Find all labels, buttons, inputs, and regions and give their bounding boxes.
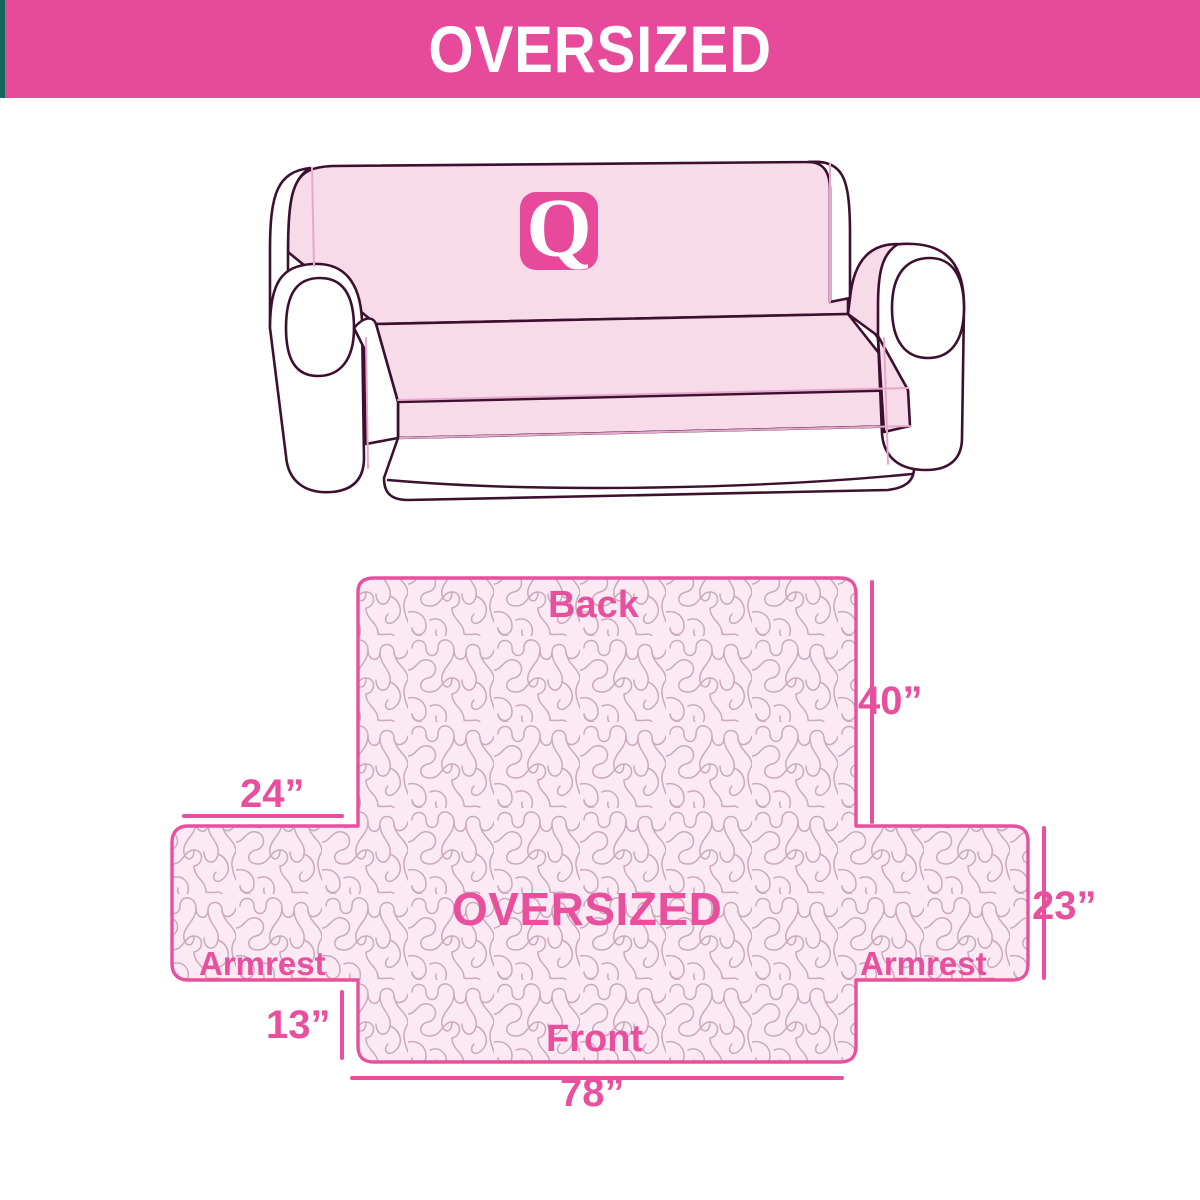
header-edge-strip	[0, 0, 5, 98]
header-banner: OVERSIZED	[0, 0, 1200, 98]
dimension-label-front-skirt: 13”	[266, 1005, 331, 1045]
infographic-page: OVERSIZED	[0, 0, 1200, 1200]
page-title: OVERSIZED	[428, 16, 772, 82]
panel-label-armrest-right: Armrest	[860, 947, 987, 980]
brand-badge: Q	[520, 182, 598, 275]
dimension-label-armrest-depth: 23”	[1032, 886, 1097, 926]
dimension-label-back-height: 40”	[858, 681, 923, 721]
panel-label-center: OVERSIZED	[452, 886, 722, 932]
sofa-left-arm-roll	[286, 278, 354, 376]
sofa-right-arm-roll	[892, 258, 964, 358]
panel-label-armrest-left: Armrest	[199, 947, 326, 980]
brand-badge-letter: Q	[526, 182, 591, 275]
dimension-label-back-inset: 24”	[240, 774, 305, 814]
sofa-seat-cushion	[376, 314, 908, 402]
dimension-label-total-width: 78”	[560, 1073, 625, 1113]
sofa-illustration: Q	[248, 138, 972, 512]
slipcover-flat-shape	[172, 578, 1028, 1062]
panel-label-back: Back	[548, 586, 639, 624]
panel-label-front: Front	[546, 1020, 643, 1058]
